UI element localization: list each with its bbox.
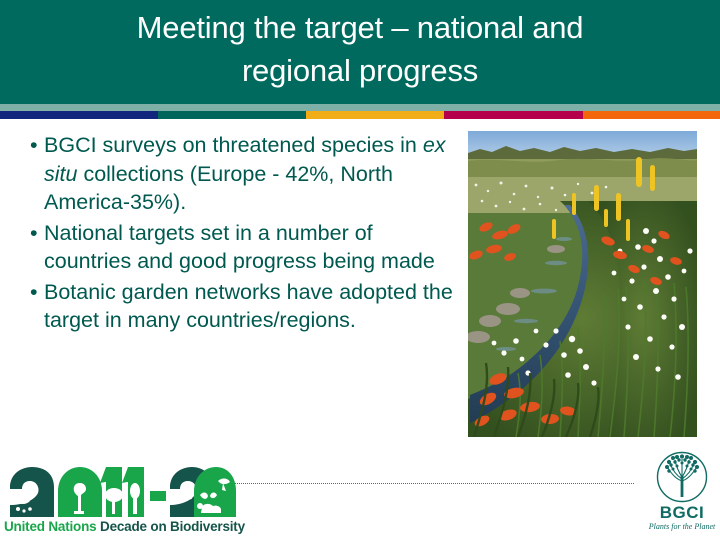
footer-dotted-rule xyxy=(232,483,634,485)
bullet-text-2: National targets set in a number of coun… xyxy=(44,219,458,276)
color-segment-yellow xyxy=(306,111,444,119)
title-band: Meeting the target – national and region… xyxy=(0,0,720,100)
bgci-tree-emblem-icon xyxy=(656,451,708,503)
bullet-list: • BGCI surveys on threatened species in … xyxy=(18,131,458,337)
bgci-logo: BGCI Plants for the Planet xyxy=(648,451,716,539)
bgci-wordmark: BGCI xyxy=(648,504,716,521)
list-item: • BGCI surveys on threatened species in … xyxy=(18,131,458,217)
bullet-marker: • xyxy=(18,131,44,160)
photo-artwork xyxy=(468,131,697,437)
color-segment-teal xyxy=(158,111,306,119)
divider-stripe-sage xyxy=(0,104,720,111)
color-segment-crimson xyxy=(444,111,583,119)
bullet-marker: • xyxy=(18,219,44,248)
divider-color-segments xyxy=(0,111,720,119)
list-item: • Botanic garden networks have adopted t… xyxy=(18,278,458,335)
bullet-1-part-a: BGCI surveys on threatened species in xyxy=(44,133,423,157)
slide-title: Meeting the target – national and region… xyxy=(40,6,680,92)
un-decade-year-mark xyxy=(4,465,236,523)
bullet-1-part-c: collections (Europe - 42%, North America… xyxy=(44,162,393,215)
bullet-marker: • xyxy=(18,278,44,307)
color-segment-blue xyxy=(0,111,158,119)
un-caption-decade: Decade on Biodiversity xyxy=(100,519,245,534)
list-item: • National targets set in a number of co… xyxy=(18,219,458,276)
wildflower-stream-photo xyxy=(468,131,697,437)
un-logo-caption: United Nations Decade on Biodiversity xyxy=(4,519,236,534)
bullet-text-3: Botanic garden networks have adopted the… xyxy=(44,278,458,335)
bgci-tagline: Plants for the Planet xyxy=(648,522,716,532)
slide-content: • BGCI surveys on threatened species in … xyxy=(0,119,720,540)
un-caption-united-nations: United Nations xyxy=(4,519,96,534)
bullet-text-1: BGCI surveys on threatened species in ex… xyxy=(44,131,458,217)
color-segment-orange xyxy=(583,111,720,119)
